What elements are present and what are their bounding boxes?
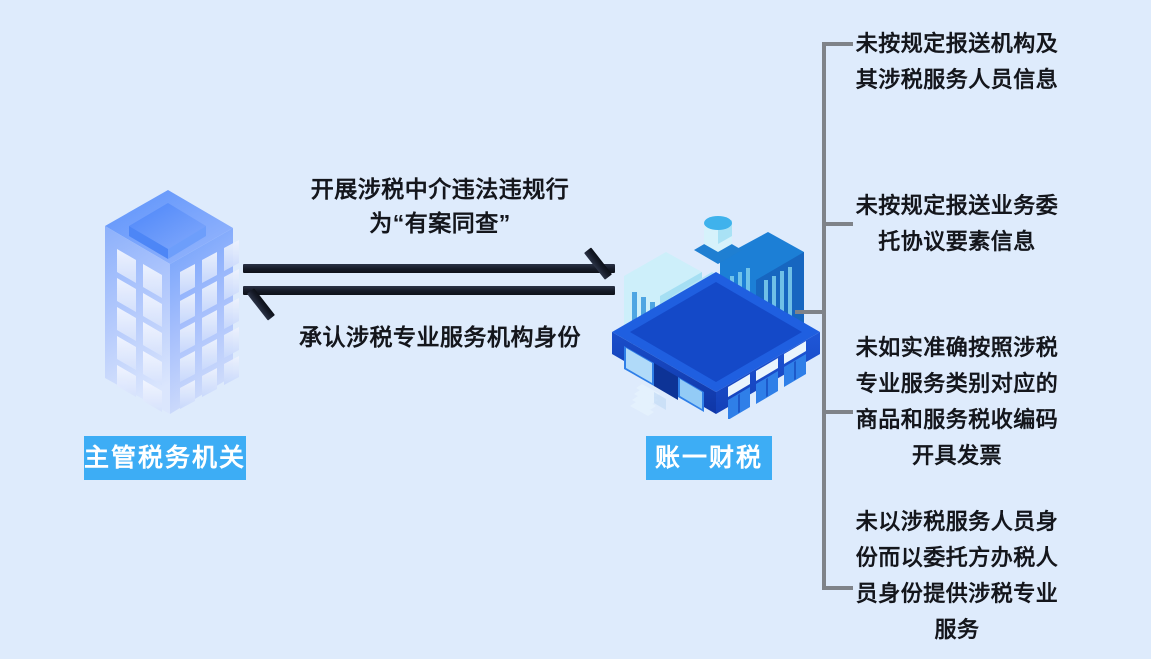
violation-item-2: 未如实准确按照涉税专业服务类别对应的商品和服务税收编码开具发票 <box>848 330 1066 474</box>
arrow-inbound-shaft <box>243 286 615 295</box>
bracket-spine <box>822 42 826 590</box>
tax-agency-office-complex-icon <box>608 214 823 419</box>
right-building-svg <box>608 214 823 419</box>
violation-item-1: 未按规定报送业务委托协议要素信息 <box>848 188 1066 260</box>
government-office-building-icon <box>96 186 241 418</box>
flow-label-inbound: 承认涉税专业服务机构身份 <box>235 320 645 354</box>
diagram-canvas: 开展涉税中介违法违规行 为“有案同查” 承认涉税专业服务机构身份 主管税务机关 … <box>0 0 1151 659</box>
left-building-svg <box>96 186 241 418</box>
violation-item-3: 未以涉税服务人员身份而以委托方办税人员身份提供涉税专业服务 <box>848 504 1066 648</box>
flow-label-outbound: 开展涉税中介违法违规行 为“有案同查” <box>235 172 645 240</box>
badge-tax-agency[interactable]: 账一财税 <box>646 436 772 480</box>
violation-item-0: 未按规定报送机构及其涉税服务人员信息 <box>848 26 1066 98</box>
badge-tax-authority[interactable]: 主管税务机关 <box>84 436 246 480</box>
bracket-connector-stub <box>795 310 824 314</box>
arrow-outbound-shaft <box>243 264 615 273</box>
